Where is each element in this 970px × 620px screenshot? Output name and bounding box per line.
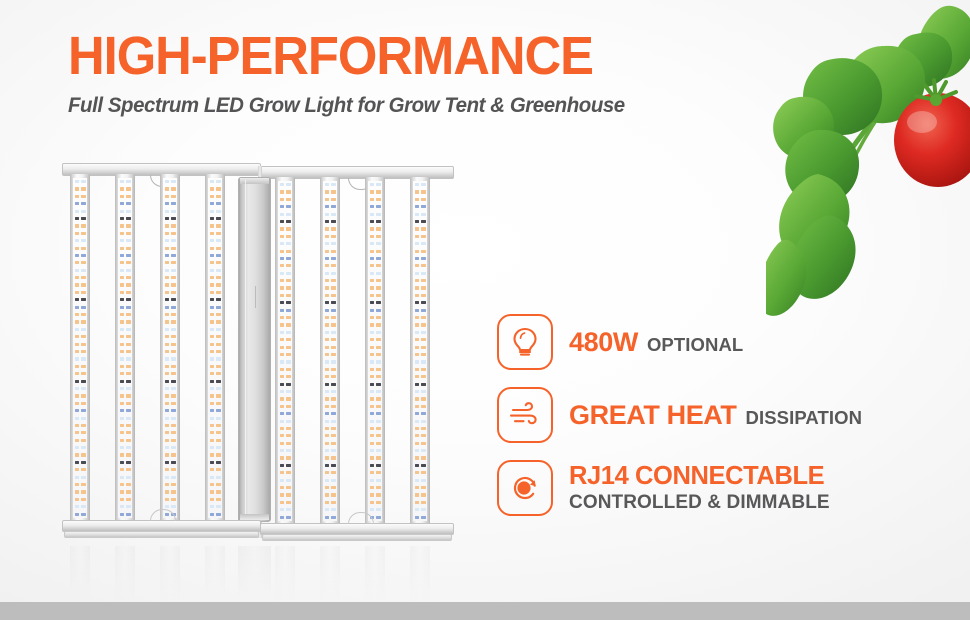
led-diode-row [278,397,292,400]
led-diode [376,205,380,208]
led-diode [331,227,335,230]
led-diode [126,247,130,250]
led-diode [75,180,79,183]
led-diode [165,490,169,493]
led-diode-row [413,301,427,304]
led-diode [210,269,214,272]
led-diode [331,353,335,356]
led-diode [280,264,284,267]
feature-row-connectable[interactable]: RJ14 CONNECTABLE CONTROLLED & DIMMABLE [497,460,862,516]
led-diode [165,380,169,383]
led-diode [280,257,284,260]
led-diode-row [323,301,337,304]
leaf [785,130,859,205]
wind-icon [509,400,541,430]
led-diode-row [208,513,222,516]
led-diode [126,276,130,279]
led-diode-row [208,453,222,456]
led-diode-row [368,353,382,356]
led-diode-row [208,261,222,264]
page-subtitle: Full Spectrum LED Grow Light for Grow Te… [68,93,733,118]
led-diode [325,508,329,511]
led-diode-row [368,294,382,297]
led-diode [370,383,374,386]
led-diode [370,449,374,452]
led-diode [81,291,85,294]
led-diode [331,442,335,445]
led-diode [280,405,284,408]
led-diode [370,227,374,230]
led-diode-row [278,346,292,349]
led-diode [331,272,335,275]
led-diode [216,306,220,309]
led-diode [171,187,175,190]
led-diode [126,372,130,375]
led-diode [216,409,220,412]
led-diode [75,380,79,383]
led-diode [126,232,130,235]
led-diode-row [278,257,292,260]
led-diode [376,294,380,297]
led-diode [415,183,419,186]
leaf [779,174,849,260]
led-diode [75,187,79,190]
led-diode-row [368,405,382,408]
led-diode-row [163,461,177,464]
led-diode [280,286,284,289]
led-diode-row [413,272,427,275]
feature-row-heat[interactable]: GREAT HEAT DISSIPATION [497,387,862,443]
led-diode [165,394,169,397]
led-diode [216,350,220,353]
led-diode [126,380,130,383]
led-diode [120,180,124,183]
led-diode [216,180,220,183]
led-diode [370,360,374,363]
led-diode [376,456,380,459]
led-diode [126,505,130,508]
led-diode-row [278,264,292,267]
led-diode-row [163,202,177,205]
led-diode [75,394,79,397]
led-diode-row [413,405,427,408]
led-diode [171,357,175,360]
led-diode [171,394,175,397]
led-diode-row [278,375,292,378]
led-diode [120,276,124,279]
led-diode [171,328,175,331]
led-diode [325,479,329,482]
led-diode [216,239,220,242]
led-diode [376,323,380,326]
led-diode [286,479,290,482]
led-diode [280,479,284,482]
led-diode-row [208,187,222,190]
led-diode [120,439,124,442]
led-diode-row [163,343,177,346]
led-diode [415,479,419,482]
led-diode-row [163,187,177,190]
led-diode [286,427,290,430]
led-diode-row [73,372,87,375]
led-diode [171,350,175,353]
led-diode [120,283,124,286]
led-diode [216,372,220,375]
led-diode [421,279,425,282]
led-diode [286,375,290,378]
led-diode-row [278,508,292,511]
led-diode-row [163,365,177,368]
led-diode [81,306,85,309]
led-diode [286,464,290,467]
tomato-calyx [916,80,956,100]
led-diode [376,301,380,304]
led-diode [280,235,284,238]
led-diode [370,198,374,201]
led-diode [126,357,130,360]
led-diode [421,427,425,430]
led-diode-row [163,417,177,420]
led-diode [126,335,130,338]
feature-row-wattage[interactable]: 480W OPTIONAL [497,314,862,370]
led-diode [75,387,79,390]
led-diode-row [73,335,87,338]
led-diode [421,213,425,216]
led-diode-row [118,343,132,346]
led-diode [75,343,79,346]
led-diode [415,508,419,511]
led-bar [365,177,385,525]
led-diode-row [368,456,382,459]
led-diode [280,190,284,193]
led-diode [376,235,380,238]
led-diode-row [208,394,222,397]
led-diode-row [73,483,87,486]
foot-rail-left [64,531,259,538]
led-diode-row [278,427,292,430]
led-diode [126,343,130,346]
led-diode [210,380,214,383]
led-diode [415,279,419,282]
led-diode [286,486,290,489]
led-diode [421,338,425,341]
led-diode-row [323,272,337,275]
reflection-bar [70,546,90,602]
led-diode [216,210,220,213]
led-diode [216,298,220,301]
led-diode [331,235,335,238]
led-diode [210,402,214,405]
led-diode [415,323,419,326]
led-diode [280,383,284,386]
led-diode [216,468,220,471]
led-diode-row [118,350,132,353]
led-diode [75,217,79,220]
led-diode [171,313,175,316]
led-diode [370,405,374,408]
led-diode-row [163,195,177,198]
led-diode [81,328,85,331]
led-diode [280,272,284,275]
headline-block: HIGH-PERFORMANCE Full Spectrum LED Grow … [68,28,768,118]
led-diode-row [208,232,222,235]
led-diode [325,309,329,312]
led-diode-row [368,346,382,349]
led-diode-row [163,313,177,316]
led-diode [126,394,130,397]
led-diode [421,286,425,289]
led-diode-row [278,190,292,193]
led-diode [376,272,380,275]
led-diode [126,387,130,390]
led-diode-row [73,283,87,286]
led-diode [171,254,175,257]
led-diode [120,320,124,323]
led-diode [216,269,220,272]
led-diode-row [368,220,382,223]
led-diode [165,357,169,360]
led-diode [210,306,214,309]
led-diode [216,498,220,501]
led-diode [171,372,175,375]
led-diode [210,335,214,338]
led-diode-row [368,316,382,319]
led-diode [165,217,169,220]
led-diode [81,187,85,190]
led-diode [81,380,85,383]
led-diode-row [368,375,382,378]
led-diode [165,291,169,294]
led-diode [370,294,374,297]
led-diode [81,365,85,368]
led-diode-row [368,264,382,267]
led-diode [415,294,419,297]
led-diode [325,360,329,363]
led-diode-row [163,276,177,279]
led-diode-row [413,353,427,356]
led-diode [415,242,419,245]
led-diode-row [368,309,382,312]
led-diode-row [73,343,87,346]
led-diode [280,486,284,489]
led-diode [325,405,329,408]
led-diode-row [278,420,292,423]
led-diode [286,501,290,504]
led-diode [171,202,175,205]
led-diode-row [118,468,132,471]
led-diode [81,357,85,360]
led-diode [75,350,79,353]
led-diode-row [73,394,87,397]
led-diode-row [278,301,292,304]
led-diode [120,202,124,205]
led-diode-strip [278,181,292,521]
led-diode [210,298,214,301]
led-diode [75,269,79,272]
led-diode [376,353,380,356]
led-diode-row [118,195,132,198]
led-diode [421,323,425,326]
led-diode [120,335,124,338]
led-diode [81,505,85,508]
led-diode [286,272,290,275]
led-diode-row [413,346,427,349]
led-diode [165,453,169,456]
led-diode [280,390,284,393]
led-diode [376,390,380,393]
led-diode [81,394,85,397]
led-diode [415,301,419,304]
led-diode-row [323,420,337,423]
reflection-bar [205,546,225,602]
led-diode [171,483,175,486]
led-diode [216,187,220,190]
led-diode [325,471,329,474]
led-diode [376,331,380,334]
led-diode [325,456,329,459]
led-diode [421,471,425,474]
led-diode [120,232,124,235]
bottom-bar [0,602,970,620]
led-diode-row [163,217,177,220]
led-diode-row [278,227,292,230]
led-diode [421,405,425,408]
led-diode-row [163,387,177,390]
led-diode [280,427,284,430]
led-diode [126,483,130,486]
led-diode-row [278,331,292,334]
led-bar [160,174,180,522]
led-diode [376,286,380,289]
led-diode [421,360,425,363]
led-diode-row [163,239,177,242]
led-diode [126,210,130,213]
led-diode-row [208,224,222,227]
led-diode-row [118,232,132,235]
foot-rail-right [262,534,452,541]
leaf [790,215,855,298]
led-diode-row [368,286,382,289]
led-diode-strip [323,181,337,521]
led-diode [325,301,329,304]
led-diode [165,417,169,420]
led-diode [126,328,130,331]
led-diode-row [208,247,222,250]
led-diode [286,493,290,496]
led-diode [415,250,419,253]
led-diode [171,217,175,220]
feature-text-connectable: RJ14 CONNECTABLE CONTROLLED & DIMMABLE [569,462,830,514]
led-diode [280,242,284,245]
led-diode [331,486,335,489]
led-diode [331,257,335,260]
led-diode [210,394,214,397]
led-diode [75,357,79,360]
led-diode [75,195,79,198]
led-diode [126,461,130,464]
led-diode-row [413,493,427,496]
led-diode-row [208,269,222,272]
led-diode [75,424,79,427]
led-diode-row [413,235,427,238]
led-diode [120,239,124,242]
led-diode [415,516,419,519]
led-diode-row [323,323,337,326]
leaf [773,97,834,159]
led-diode-row [323,183,337,186]
led-diode [120,254,124,257]
reflection-bar [320,546,340,602]
led-diode [421,508,425,511]
led-diode-row [118,335,132,338]
led-diode-row [323,220,337,223]
led-diode-row [413,412,427,415]
led-diode-row [368,501,382,504]
led-diode [171,468,175,471]
led-diode-row [73,513,87,516]
led-diode [75,202,79,205]
led-diode-row [413,456,427,459]
led-diode-row [163,453,177,456]
led-diode [415,493,419,496]
led-diode-row [413,516,427,519]
led-diode [171,417,175,420]
led-diode [421,190,425,193]
led-diode-row [323,235,337,238]
led-diode-row [278,360,292,363]
led-diode [376,213,380,216]
led-diode [75,320,79,323]
led-diode-row [323,464,337,467]
led-diode-row [118,424,132,427]
led-diode [376,397,380,400]
led-diode [210,210,214,213]
led-diode-row [163,298,177,301]
led-diode [376,309,380,312]
led-diode [210,239,214,242]
led-diode-row [368,508,382,511]
led-diode [81,195,85,198]
led-diode [415,316,419,319]
led-diode [370,353,374,356]
lightbulb-icon [510,326,540,358]
led-diode [120,483,124,486]
led-diode [81,180,85,183]
led-diode [126,409,130,412]
led-diode [210,247,214,250]
led-diode [325,220,329,223]
led-diode [126,446,130,449]
led-diode-row [368,412,382,415]
led-diode [120,424,124,427]
led-diode [75,461,79,464]
plant-stem [806,24,962,226]
led-diode [81,313,85,316]
led-diode-row [413,183,427,186]
led-diode [421,353,425,356]
led-diode [165,372,169,375]
led-diode [286,205,290,208]
led-diode [216,439,220,442]
led-diode [376,264,380,267]
led-diode-row [208,365,222,368]
led-diode [331,294,335,297]
led-diode-row [278,456,292,459]
led-diode-row [368,323,382,326]
led-diode [75,283,79,286]
led-diode [75,261,79,264]
led-diode-row [368,434,382,437]
